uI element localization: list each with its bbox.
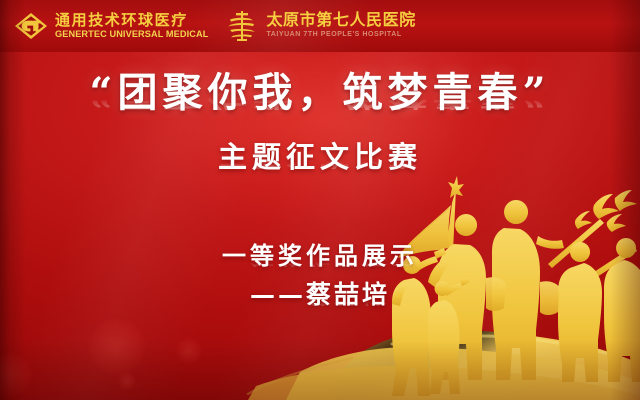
background-vignette [0,0,640,400]
poster-canvas: 通用技术环球医疗 GENERTEC UNIVERSAL MEDICAL 太原市第… [0,0,640,400]
